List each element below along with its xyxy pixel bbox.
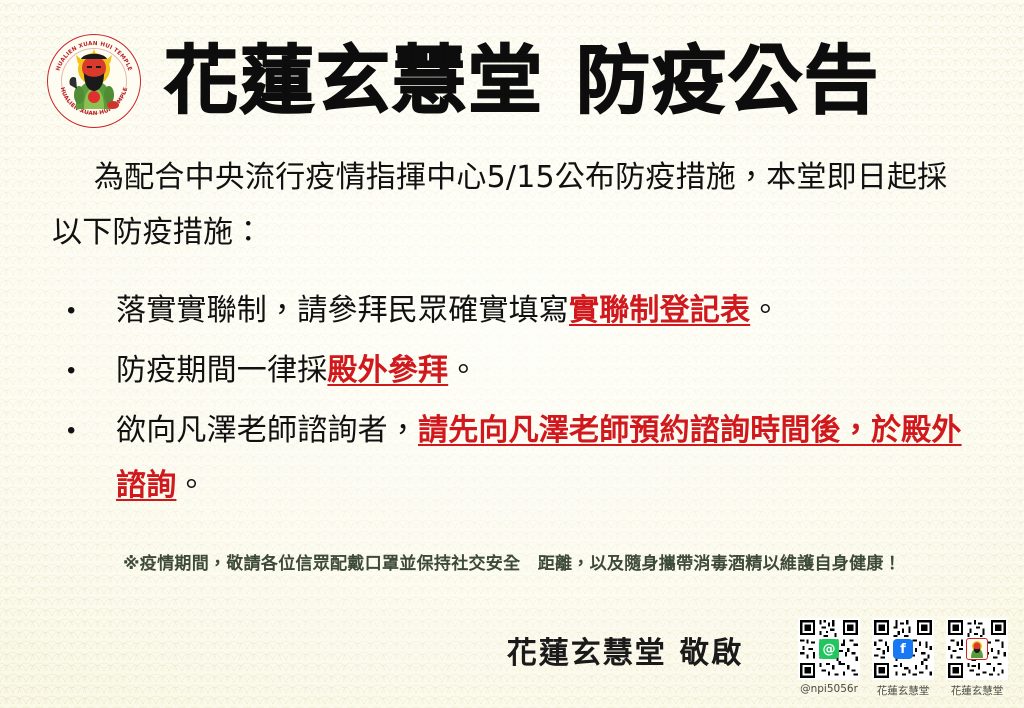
qr-code-temple-icon[interactable] bbox=[946, 618, 1008, 680]
qr-code-group: @ @npi5056r bbox=[798, 618, 1008, 698]
deity-figure-icon bbox=[60, 47, 128, 115]
measure-segment: 。 bbox=[750, 293, 780, 328]
measure-text: 落實實聯制，請參拜民眾確實填寫實聯制登記表。 bbox=[116, 283, 984, 338]
measure-highlight: 殿外參拜 bbox=[327, 353, 448, 388]
signature-line: 花蓮玄慧堂 敬啟 bbox=[455, 628, 795, 672]
qr-item-facebook[interactable]: f 花蓮玄慧堂 bbox=[872, 618, 934, 698]
qr-code-facebook-icon[interactable]: f bbox=[872, 618, 934, 680]
qr-item-line[interactable]: @ @npi5056r bbox=[798, 618, 860, 695]
measures-list: • 落實實聯制，請參拜民眾確實填寫實聯制登記表。 • 防疫期間一律採殿外參拜。 … bbox=[0, 283, 1024, 518]
title-temple-name: 花蓮玄慧堂 bbox=[164, 44, 544, 118]
temple-seal-logo: HUALIEN XUAN HUI TEMPLE HUALIEN XUAN HUI… bbox=[46, 33, 142, 129]
poster-header: HUALIEN XUAN HUI TEMPLE HUALIEN XUAN HUI… bbox=[0, 22, 1024, 140]
title-announcement-type: 防疫公告 bbox=[576, 44, 880, 118]
qr-item-temple[interactable]: 花蓮玄慧堂 bbox=[946, 618, 1008, 698]
measure-text: 欲向凡澤老師諮詢者，請先向凡澤老師預約諮詢時間後，於殿外諮詢。 bbox=[116, 403, 984, 513]
facebook-badge-icon: f bbox=[893, 639, 913, 659]
intro-block: 為配合中央流行疫情指揮中心5/15公布防疫措施，本堂即日起採以下防疫措施： bbox=[0, 150, 1024, 260]
measure-segment: 落實實聯制，請參拜民眾確實填寫 bbox=[116, 293, 569, 328]
health-reminder-footnote: ※疫情期間，敬請各位信眾配戴口罩並保持社交安全 距離，以及隨身攜帶消毒酒精以維護… bbox=[0, 552, 1024, 576]
poster-title: 花蓮玄慧堂 防疫公告 bbox=[164, 44, 880, 118]
qr-caption: @npi5056r bbox=[798, 683, 860, 695]
measure-segment: 。 bbox=[448, 353, 478, 388]
temple-logo-badge-icon bbox=[966, 638, 988, 660]
measure-segment: 防疫期間一律採 bbox=[116, 353, 327, 388]
announcement-poster: HUALIEN XUAN HUI TEMPLE HUALIEN XUAN HUI… bbox=[0, 0, 1024, 708]
bullet-marker-icon: • bbox=[62, 343, 116, 398]
measure-highlight: 實聯制登記表 bbox=[569, 293, 750, 328]
list-item: • 防疫期間一律採殿外參拜。 bbox=[62, 343, 984, 398]
list-item: • 欲向凡澤老師諮詢者，請先向凡澤老師預約諮詢時間後，於殿外諮詢。 bbox=[62, 403, 984, 513]
qr-caption: 花蓮玄慧堂 bbox=[946, 683, 1008, 698]
measure-segment: 欲向凡澤老師諮詢者， bbox=[116, 413, 418, 448]
measure-text: 防疫期間一律採殿外參拜。 bbox=[116, 343, 984, 398]
qr-code-line-icon[interactable]: @ bbox=[798, 618, 860, 680]
deity-mini-icon bbox=[967, 638, 987, 660]
list-item: • 落實實聯制，請參拜民眾確實填寫實聯制登記表。 bbox=[62, 283, 984, 338]
qr-caption: 花蓮玄慧堂 bbox=[872, 683, 934, 698]
bullet-marker-icon: • bbox=[62, 283, 116, 338]
line-badge-icon: @ bbox=[819, 639, 839, 659]
bullet-marker-icon: • bbox=[62, 403, 116, 458]
measure-segment: 。 bbox=[176, 468, 206, 503]
intro-paragraph: 為配合中央流行疫情指揮中心5/15公布防疫措施，本堂即日起採以下防疫措施： bbox=[52, 150, 962, 260]
